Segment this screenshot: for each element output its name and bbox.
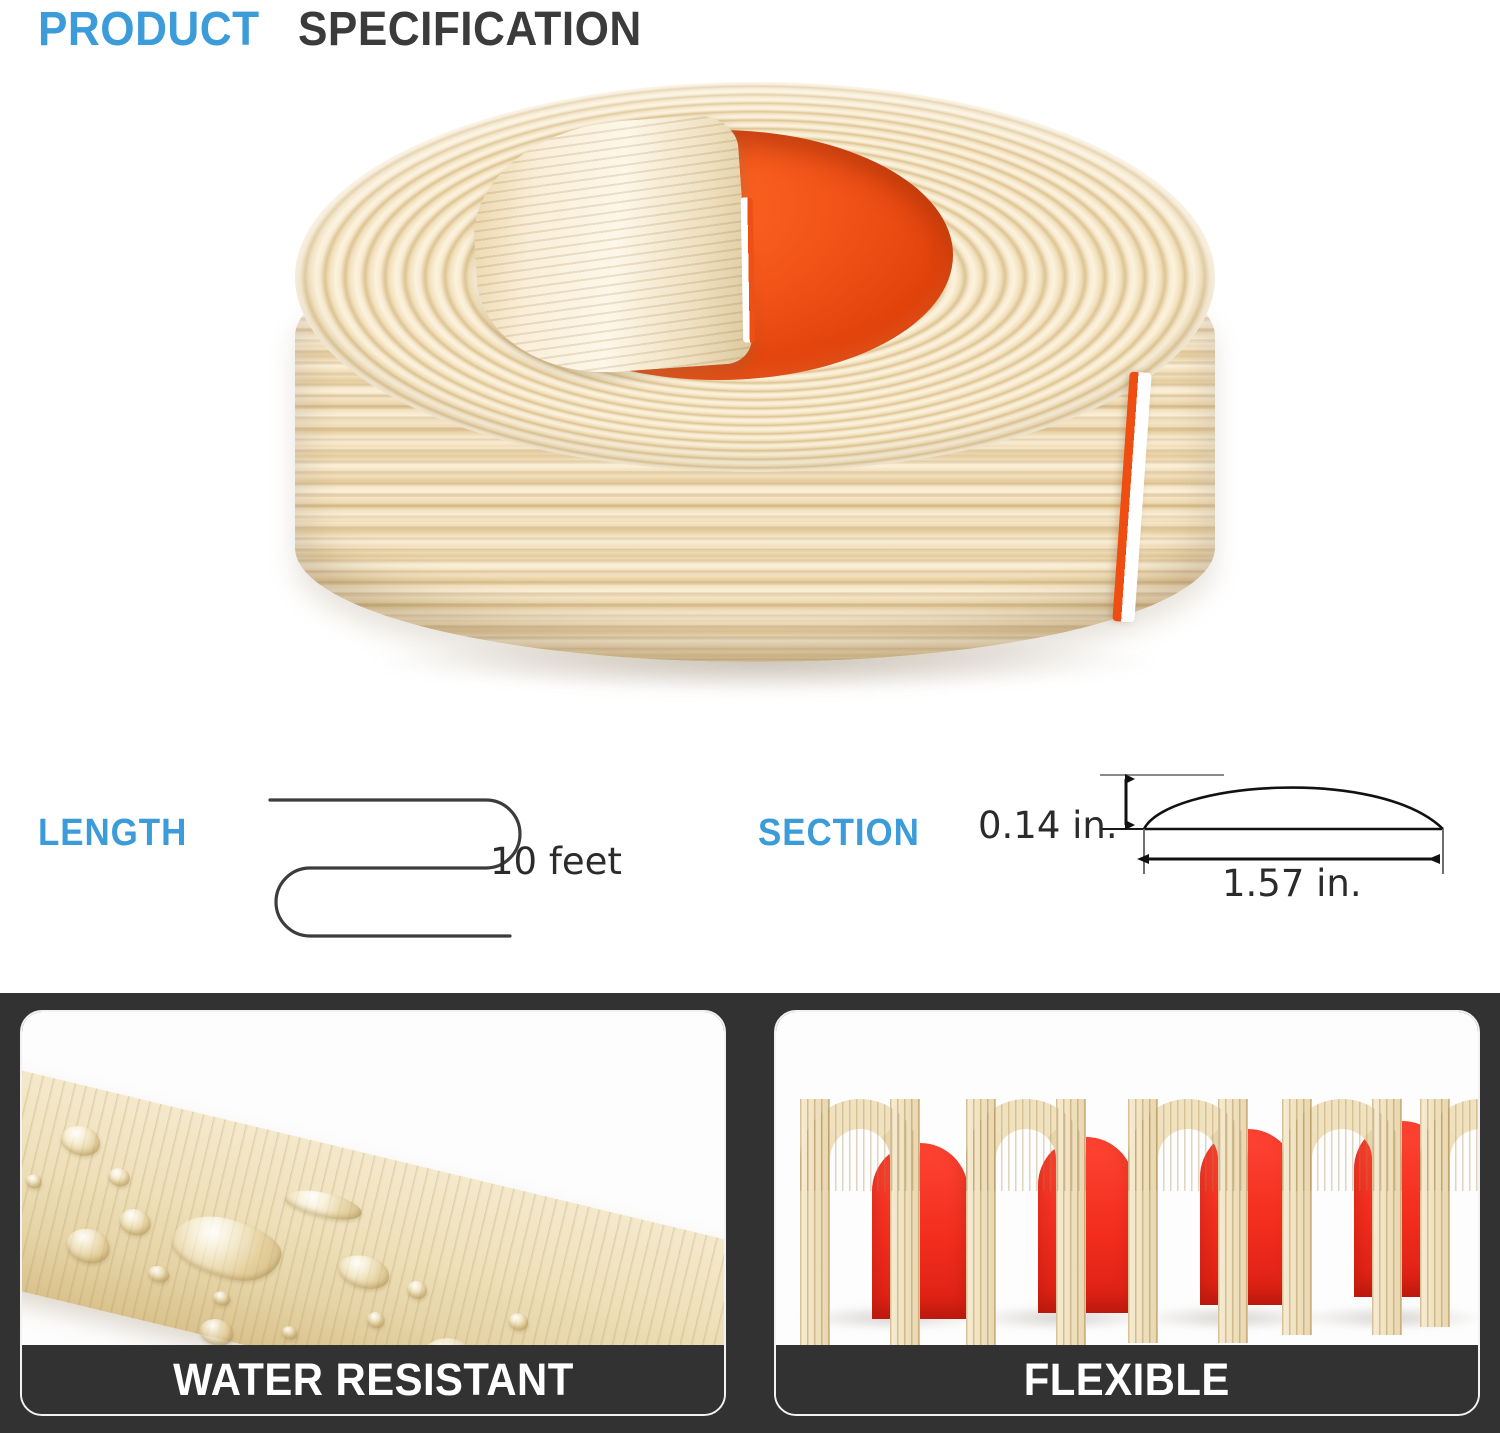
title-specification-word: SPECIFICATION [298, 2, 642, 57]
specification-row: LENGTH 10 feet SECTION [0, 762, 1500, 972]
length-label: LENGTH [38, 812, 187, 855]
wood-plank [22, 1055, 724, 1349]
flexible-photo [776, 1012, 1478, 1349]
card-label-water-resistant: WATER RESISTANT [22, 1345, 724, 1414]
hero-product-photo [0, 62, 1500, 762]
section-height-value: 0.14 in. [978, 804, 1118, 847]
title-product-word: PRODUCT [38, 2, 260, 57]
section-label: SECTION [758, 812, 920, 855]
flex-arch [1128, 1099, 1248, 1315]
flex-arch [966, 1099, 1086, 1323]
flex-arch [800, 1099, 920, 1331]
section-width-value: 1.57 in. [1222, 862, 1362, 905]
flex-arch [1282, 1099, 1402, 1307]
product-specification-page: PRODUCT SPECIFICATION LENGTH 10 feet SEC… [0, 0, 1500, 1433]
feature-card-water-resistant: WATER RESISTANT [20, 1010, 726, 1416]
card-label-flexible: FLEXIBLE [776, 1345, 1478, 1414]
page-title: PRODUCT SPECIFICATION [38, 2, 671, 56]
feature-card-flexible: FLEXIBLE [774, 1010, 1480, 1416]
water-resistant-photo [22, 1012, 724, 1349]
edge-banding-roll-illustration [255, 72, 1255, 712]
feature-cards-strip: WATER RESISTANT [0, 993, 1500, 1433]
length-value: 10 feet [490, 840, 622, 883]
flex-arch [1420, 1099, 1478, 1299]
